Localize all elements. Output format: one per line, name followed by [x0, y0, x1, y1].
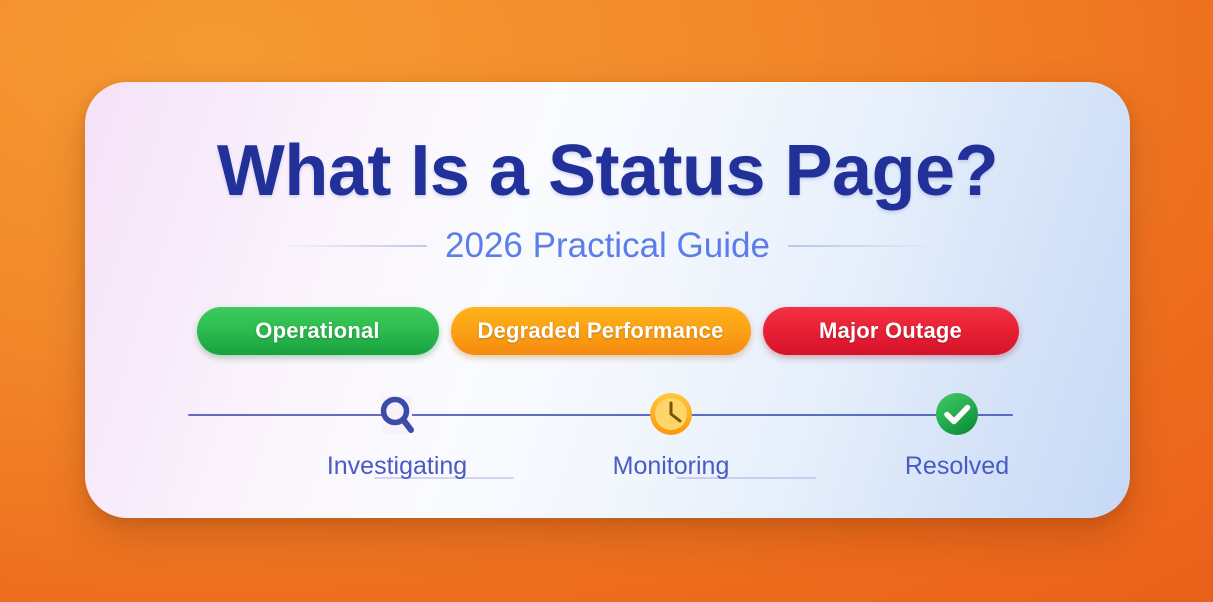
- timeline-track: [188, 414, 1013, 416]
- content-card: What Is a Status Page? 2026 Practical Gu…: [85, 82, 1130, 518]
- subtitle-rule-left: [282, 245, 427, 247]
- status-pill-row: Operational Degraded Performance Major O…: [85, 307, 1130, 355]
- status-pill-operational[interactable]: Operational: [197, 307, 439, 355]
- timeline-step-label-monitoring: Monitoring: [613, 452, 730, 481]
- subtitle-row: 2026 Practical Guide: [85, 226, 1130, 266]
- check-circle-icon: [934, 392, 980, 438]
- timeline-step-monitoring[interactable]: Monitoring: [611, 392, 731, 481]
- status-pill-major-outage[interactable]: Major Outage: [763, 307, 1019, 355]
- timeline-step-label-resolved: Resolved: [905, 452, 1009, 481]
- infographic-canvas: What Is a Status Page? 2026 Practical Gu…: [0, 0, 1213, 602]
- timeline-step-resolved[interactable]: Resolved: [897, 392, 1017, 481]
- page-subtitle: 2026 Practical Guide: [445, 226, 770, 266]
- incident-timeline: Investigating: [188, 392, 1013, 492]
- page-title: What Is a Status Page?: [85, 130, 1130, 212]
- clock-icon: [648, 392, 694, 438]
- timeline-step-label-investigating: Investigating: [327, 452, 467, 481]
- timeline-step-investigating[interactable]: Investigating: [337, 392, 457, 481]
- magnifier-icon: [374, 392, 420, 438]
- status-pill-degraded-performance[interactable]: Degraded Performance: [451, 307, 751, 355]
- subtitle-rule-right: [788, 245, 933, 247]
